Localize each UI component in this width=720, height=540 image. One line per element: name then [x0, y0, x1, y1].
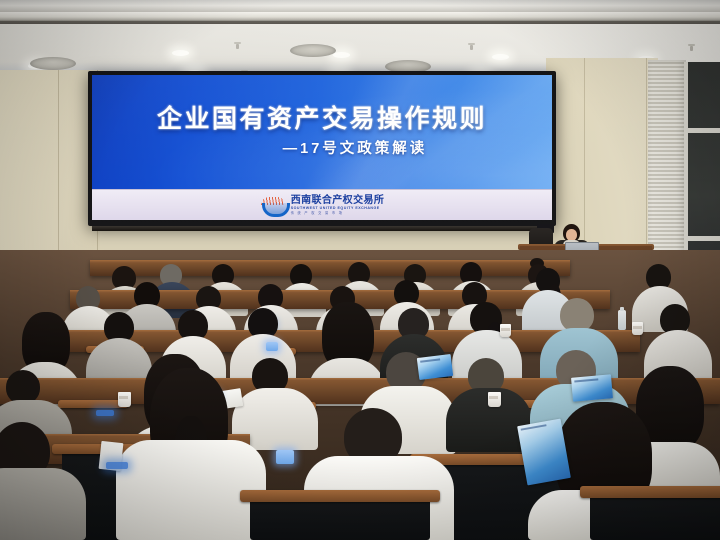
auditorium-seat [250, 496, 430, 540]
slide-title: 企业国有资产交易操作规则 [92, 99, 552, 135]
organization-logo-text: 西南联合产权交易所 SOUTHWEST UNITED EQUITY EXCHAN… [291, 196, 385, 215]
smartphone-screen [276, 450, 294, 464]
downlight-icon [172, 50, 189, 56]
conference-room-photo: 企业国有资产交易操作规则 —17号文政策解读 西南联合产权交易所 SOUTHWE… [0, 0, 720, 540]
screen-display: 企业国有资产交易操作规则 —17号文政策解读 西南联合产权交易所 SOUTHWE… [92, 75, 552, 220]
desk-indicator-light [96, 410, 114, 416]
sprinkler-icon [690, 46, 693, 51]
exchange-cup-logo-icon [260, 197, 286, 214]
air-vent-icon [30, 57, 76, 70]
sprinkler-icon [470, 45, 473, 50]
smartphone-screen [266, 342, 278, 351]
downlight-icon [333, 52, 350, 58]
blue-booklet [417, 354, 453, 380]
paper-cup [632, 322, 643, 335]
seat-armrest [580, 486, 720, 498]
window-frame [684, 236, 720, 241]
air-vent-icon [290, 44, 336, 57]
paper-cup [500, 324, 511, 337]
downlight-icon [492, 54, 509, 60]
paper-cup [118, 392, 131, 407]
paper-cup [488, 392, 501, 407]
auditorium-seat [590, 494, 720, 540]
screen-base-shadow [92, 226, 552, 231]
slide-subtitle: —17号文政策解读 [92, 137, 552, 158]
sprinkler-icon [236, 44, 239, 49]
audience-hall [0, 250, 720, 540]
window-frame [684, 128, 720, 133]
organization-tagline: 传 统 产 权 交 易 市 场 [291, 212, 385, 215]
presentation-screen: 企业国有资产交易操作规则 —17号文政策解读 西南联合产权交易所 SOUTHWE… [88, 71, 556, 226]
seat-armrest [240, 490, 440, 502]
organization-name-cn: 西南联合产权交易所 [291, 196, 385, 206]
slide-footer-bar: 西南联合产权交易所 SOUTHWEST UNITED EQUITY EXCHAN… [92, 189, 552, 220]
desk-indicator-light [106, 462, 128, 469]
blue-booklet [571, 374, 613, 401]
water-bottle [618, 310, 626, 330]
